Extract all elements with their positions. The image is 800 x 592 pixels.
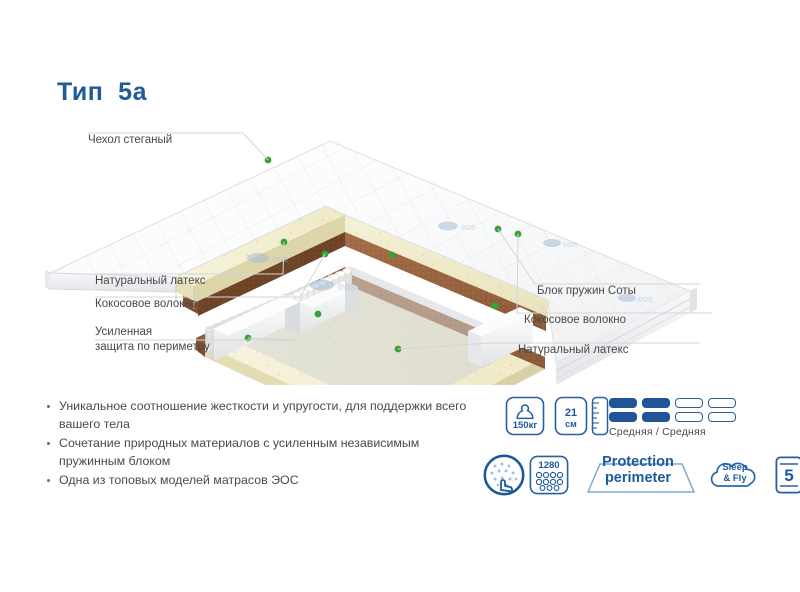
marker-perimeter xyxy=(245,335,252,342)
specs-panel: 150кг 21 см Средняя / Средняя xyxy=(505,396,775,516)
list-item: Уникальное соотношение жесткости и упруг… xyxy=(45,398,485,433)
firmness-row-side-a xyxy=(609,398,736,408)
callout-coconut-top: Кокосовое волокно xyxy=(95,282,197,312)
marker-coco-right xyxy=(515,231,522,238)
feature-list: Уникальное соотношение жесткости и упруг… xyxy=(45,398,485,492)
height-icon: 21 см xyxy=(554,396,588,436)
firmness-cell xyxy=(642,412,670,422)
max-load-icon: 150кг xyxy=(505,396,545,436)
svg-text:eos: eos xyxy=(461,222,476,232)
ruler-icon xyxy=(591,396,609,436)
firmness-cell xyxy=(675,398,703,408)
svg-text:eos: eos xyxy=(338,281,356,293)
firmness-label: Средняя / Средняя xyxy=(609,426,736,438)
protection-perimeter-badge: Protection perimeter xyxy=(578,454,698,496)
feature-text: Сочетание природных материалов с усиленн… xyxy=(59,436,419,468)
comfort-touch-badge xyxy=(483,454,525,496)
marker-latex-top xyxy=(281,239,288,246)
callout-cover: Чехол стеганый xyxy=(88,118,172,148)
list-item: Сочетание природных материалов с усиленн… xyxy=(45,435,485,470)
feature-text: Одна из топовых моделей матрасов ЭОС xyxy=(59,473,299,487)
warranty-value: 5 xyxy=(784,466,793,485)
callout-cover-label: Чехол стеганый xyxy=(88,134,172,146)
callout-spring-block: Блок пружин Соты xyxy=(537,269,636,299)
list-item: Одна из топовых моделей матрасов ЭОС xyxy=(45,472,485,490)
marker-springs-2 xyxy=(492,303,499,310)
marker-cover xyxy=(265,157,272,164)
feature-text: Уникальное соотношение жесткости и упруг… xyxy=(59,399,466,431)
firmness-cell xyxy=(642,398,670,408)
firmness-cell xyxy=(708,412,736,422)
callout-coconut-top-label: Кокосовое волокно xyxy=(95,298,197,310)
badges-row: 1280 Protection perimeter xyxy=(483,454,783,514)
svg-text:eos: eos xyxy=(563,239,578,249)
callout-latex-bottom-label: Натуральный латекс xyxy=(518,344,629,356)
springs-count-value: 1280 xyxy=(538,460,559,471)
height-value: 21 xyxy=(565,407,577,419)
sleep-and-fly-badge: Sleep & Fly xyxy=(705,456,765,494)
callout-perimeter-label: Усиленная защита по периметру xyxy=(95,326,210,353)
firmness-cell xyxy=(609,412,637,422)
callout-coconut-bottom: Кокосовое волокно xyxy=(524,298,626,328)
callout-perimeter: Усиленная защита по периметру xyxy=(95,310,210,355)
marker-coconut-top xyxy=(322,251,329,258)
product-diagram-page: Тип 5а xyxy=(0,0,800,592)
springs-count-badge: 1280 xyxy=(529,455,569,495)
sleep-and-fly-label: Sleep & Fly xyxy=(705,463,765,484)
firmness-cell xyxy=(708,398,736,408)
marker-spring-block-right xyxy=(495,226,502,233)
marker-latex-bottom xyxy=(395,346,402,353)
protection-perimeter-label: Protection perimeter xyxy=(578,455,698,486)
warranty-badge: 5 xyxy=(775,456,800,494)
firmness-indicator: Средняя / Средняя xyxy=(609,398,736,438)
max-load-value: 150кг xyxy=(513,420,538,431)
svg-text:eos: eos xyxy=(638,294,653,304)
callout-latex-bottom: Натуральный латекс xyxy=(518,328,629,358)
marker-perimeter-2 xyxy=(315,311,322,318)
callout-coconut-bottom-label: Кокосовое волокно xyxy=(524,314,626,326)
marker-springs xyxy=(389,252,396,259)
height-unit: см xyxy=(565,419,577,429)
firmness-cell xyxy=(675,412,703,422)
firmness-cell xyxy=(609,398,637,408)
callout-spring-block-label: Блок пружин Соты xyxy=(537,285,636,297)
svg-text:eos: eos xyxy=(272,254,288,265)
firmness-row-side-b xyxy=(609,412,736,422)
